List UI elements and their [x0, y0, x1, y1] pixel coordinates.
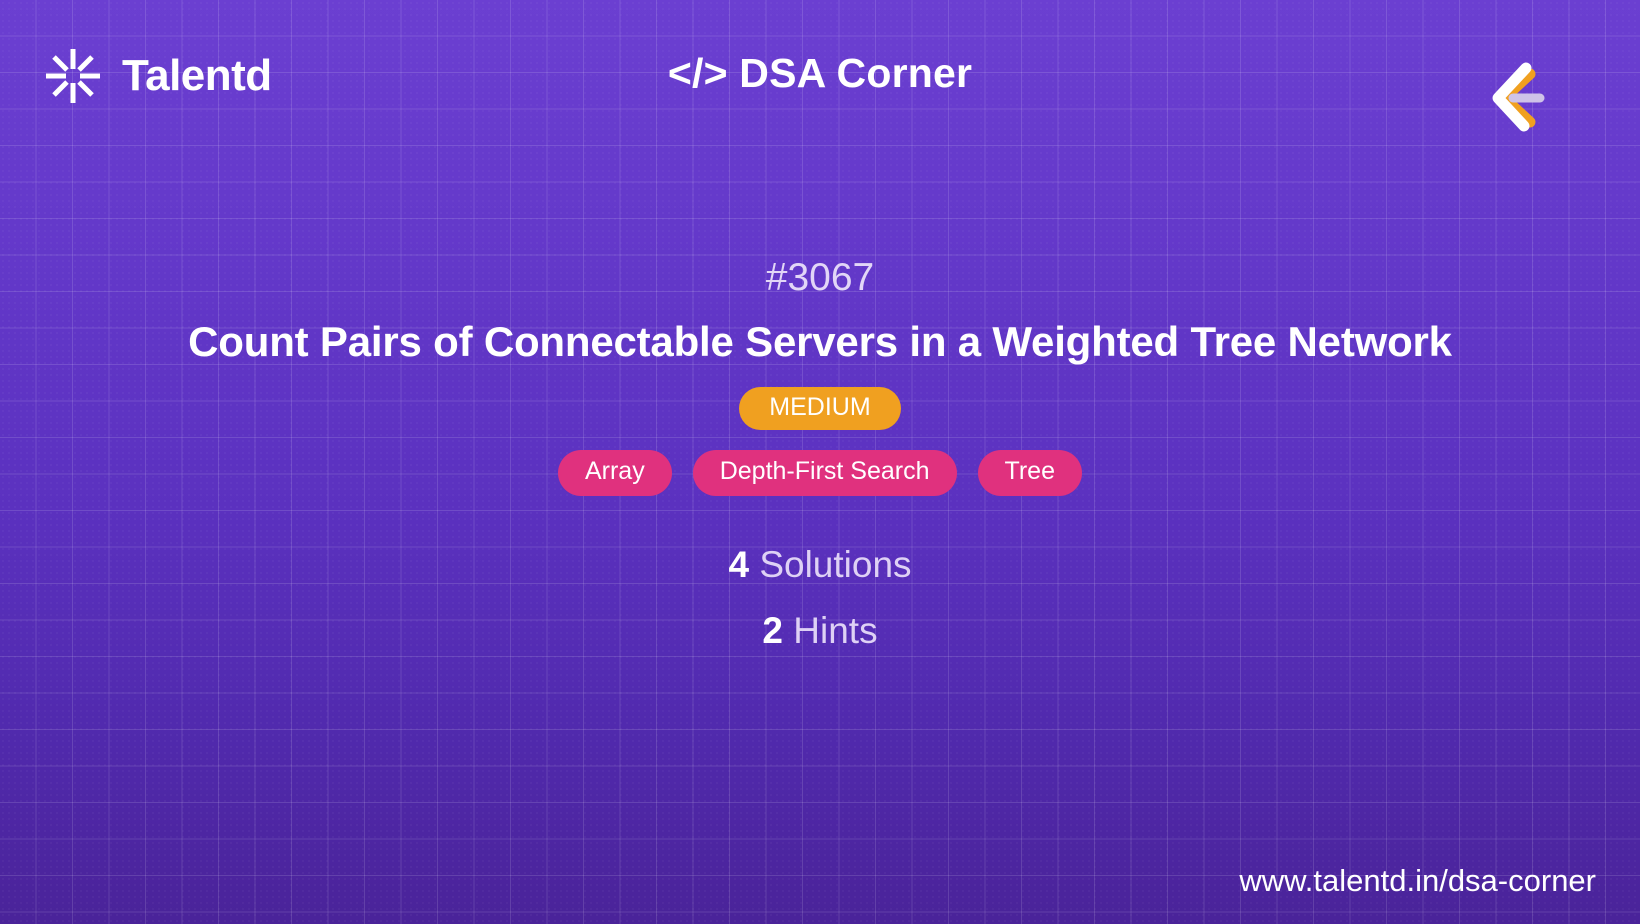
difficulty-badge: MEDIUM — [739, 387, 900, 430]
solutions-label: Solutions — [759, 544, 911, 585]
tag-pill[interactable]: Tree — [978, 450, 1082, 496]
main-content: #3067 Count Pairs of Connectable Servers… — [0, 255, 1640, 664]
hints-count: 2 — [762, 610, 783, 651]
hints-label: Hints — [793, 610, 877, 651]
footer-url[interactable]: www.talentd.in/dsa-corner — [1239, 863, 1596, 898]
stats: 4 Solutions 2 Hints — [60, 532, 1580, 664]
footer: www.talentd.in/dsa-corner — [1239, 865, 1596, 896]
tag-pill[interactable]: Array — [558, 450, 672, 496]
difficulty-row: MEDIUM — [60, 387, 1580, 430]
brand-name: Talentd — [122, 54, 272, 98]
leetcode-logo-icon — [1506, 26, 1598, 118]
poster-card: Talentd </> DSA Corner #3067 Count Pairs… — [0, 0, 1640, 924]
header: Talentd </> DSA Corner — [0, 0, 1640, 152]
asterisk-sparkle-icon — [44, 47, 102, 105]
tags-row: Array Depth-First Search Tree — [60, 450, 1580, 496]
problem-number: #3067 — [60, 255, 1580, 302]
stat-solutions: 4 Solutions — [60, 532, 1580, 598]
brand[interactable]: Talentd — [44, 47, 272, 105]
tag-pill[interactable]: Depth-First Search — [693, 450, 957, 496]
solutions-count: 4 — [728, 544, 749, 585]
problem-title: Count Pairs of Connectable Servers in a … — [60, 316, 1580, 367]
stat-hints: 2 Hints — [60, 598, 1580, 664]
